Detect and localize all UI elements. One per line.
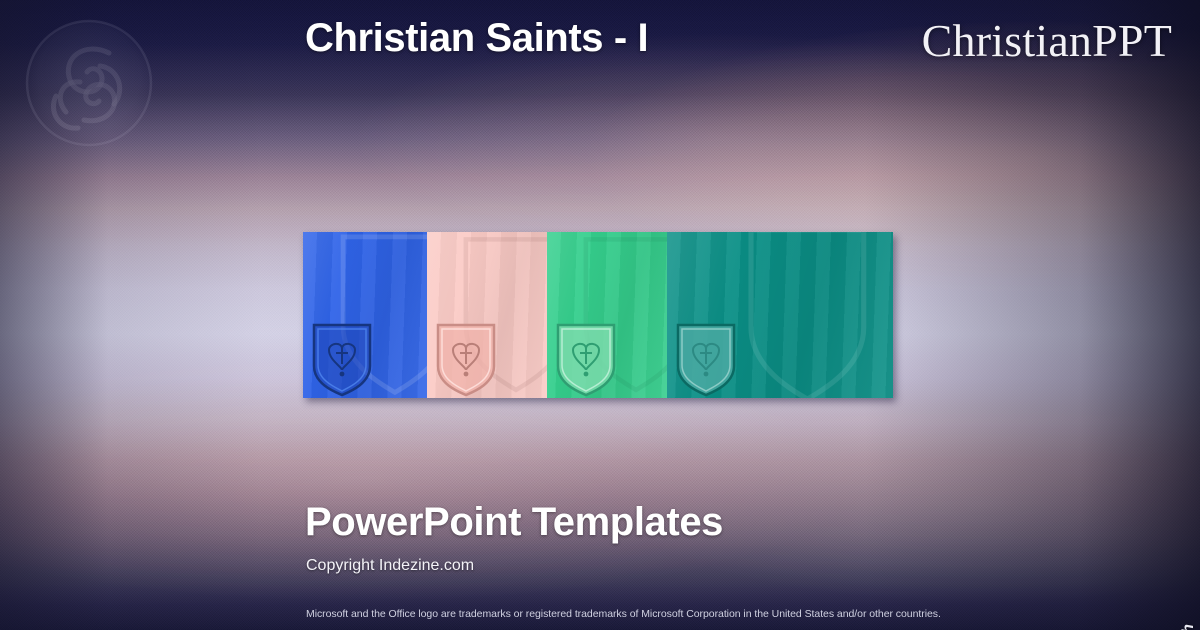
panel-shield-emblem-icon (555, 322, 617, 398)
celtic-spiral-icon (14, 8, 164, 158)
trademark-disclaimer: Microsoft and the Office logo are tradem… (306, 608, 941, 620)
panel-shield-emblem-icon (675, 322, 737, 398)
panel-shield-emblem-icon (435, 322, 497, 398)
sidebar-url-text[interactable]: christianppt.com/templatesthemes/categor… (1180, 624, 1196, 630)
panel-shield-emblem-icon (311, 322, 373, 398)
slide-title: Christian Saints - I (305, 16, 648, 61)
copyright-text: Copyright Indezine.com (306, 557, 474, 575)
theme-panel-green[interactable] (547, 232, 667, 398)
slide-canvas: Christian Saints - I ChristianPPT (0, 0, 1200, 630)
product-title: PowerPoint Templates (305, 500, 723, 545)
panel-ghost-shield-icon (726, 232, 889, 398)
brand-logo: ChristianPPT (922, 14, 1172, 67)
theme-color-panels (303, 232, 893, 398)
theme-panel-teal[interactable] (667, 232, 893, 398)
sidebar-url-strip: christianppt.com/templatesthemes/categor… (1166, 0, 1196, 630)
theme-panel-blue[interactable] (303, 232, 427, 398)
theme-panel-pink[interactable] (427, 232, 547, 398)
